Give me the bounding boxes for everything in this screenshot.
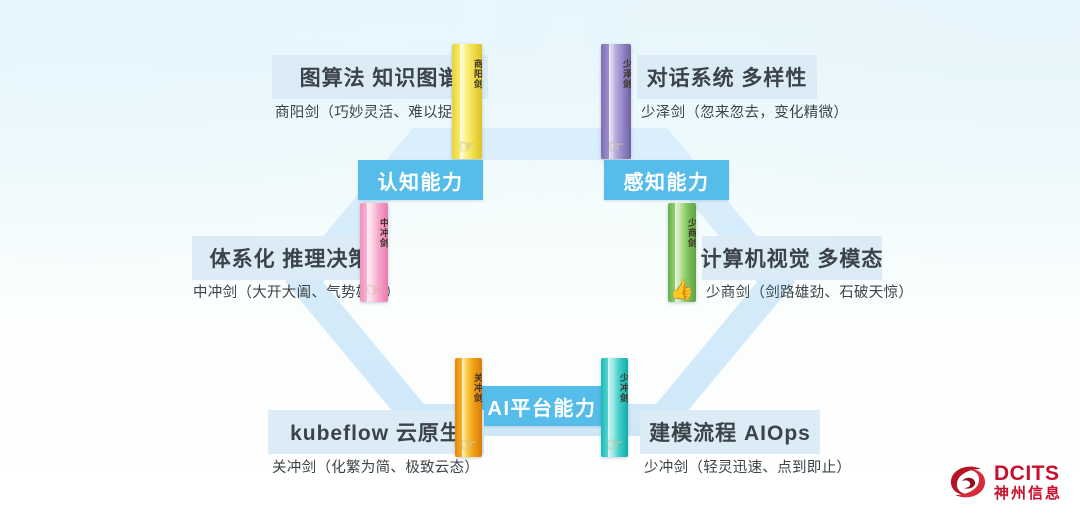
swoosh-icon xyxy=(948,463,988,501)
chip-title-shaoze: 对话系统 多样性 xyxy=(637,55,817,99)
pointing-hand-icon: ☞ xyxy=(360,281,388,300)
pillar-sword-name-shangyang: 商阳剑 xyxy=(452,51,482,97)
pillar-shaochong[interactable]: 少冲剑 ☞ xyxy=(601,358,628,457)
pillar-sword-name-shaoshang: 少商剑 xyxy=(668,210,696,256)
logo-text-block: DCITS 神州信息 xyxy=(994,463,1062,501)
pillar-caption-shaoshang: 少商剑（剑路雄劲、石破天惊） xyxy=(706,281,913,302)
capability-box-perception[interactable]: 感知能力 xyxy=(604,160,729,200)
brand-logo: DCITS 神州信息 xyxy=(948,463,1062,501)
pillar-title-zhongchong: 体系化 推理决策 xyxy=(210,243,371,273)
pillar-sword-name-guanchong: 关冲剑 xyxy=(455,365,482,411)
pointing-hand-icon: ☞ xyxy=(455,436,482,455)
chip-title-guanchong: kubeflow 云原生 xyxy=(268,410,484,454)
pillar-sword-name-shaochong: 少冲剑 xyxy=(601,365,628,411)
pillar-title-shaoze: 对话系统 多样性 xyxy=(647,62,808,92)
chip-title-shaochong: 建模流程 AIOps xyxy=(640,410,820,454)
pillar-guanchong[interactable]: 关冲剑 ☞ xyxy=(455,358,482,457)
pillar-shaoze[interactable]: 少泽剑 ☞ xyxy=(601,44,631,159)
capability-box-platform[interactable]: AI平台能力 xyxy=(477,386,607,426)
pillar-title-shaoshang: 计算机视觉 多模态 xyxy=(701,243,884,273)
pillar-zhongchong[interactable]: 中冲剑 ☞ xyxy=(360,203,388,302)
pointing-hand-icon: ☞ xyxy=(452,138,482,157)
pointing-hand-icon: ☞ xyxy=(601,138,631,157)
slide-canvas: 图算法 知识图谱 商阳剑（巧妙灵活、难以捉摸） 商阳剑 ☞ 少泽剑 ☞ 对话系统… xyxy=(0,0,1080,519)
pillar-sword-name-zhongchong: 中冲剑 xyxy=(360,210,388,256)
pillar-title-guanchong: kubeflow 云原生 xyxy=(290,417,462,447)
pillar-caption-shaoze: 少泽剑（忽来忽去，变化精微） xyxy=(641,101,848,122)
pillar-sword-name-shaoze: 少泽剑 xyxy=(601,51,631,97)
pillar-title-shangyang: 图算法 知识图谱 xyxy=(300,62,461,92)
pillar-caption-guanchong: 关冲剑（化繁为简、极致云态） xyxy=(272,456,479,477)
capability-box-cognitive[interactable]: 认知能力 xyxy=(358,160,483,200)
chip-title-shaoshang: 计算机视觉 多模态 xyxy=(702,236,882,280)
pointing-hand-icon: ☞ xyxy=(601,436,628,455)
logo-text-en: DCITS xyxy=(994,463,1062,484)
thumbs-up-hand-icon: 👍 xyxy=(668,281,696,300)
pillar-title-shaochong: 建模流程 AIOps xyxy=(649,417,811,447)
pillar-shangyang[interactable]: 商阳剑 ☞ xyxy=(452,44,482,159)
logo-text-cn: 神州信息 xyxy=(994,486,1062,501)
chip-title-zhongchong: 体系化 推理决策 xyxy=(192,236,388,280)
pillar-shaoshang[interactable]: 少商剑 👍 xyxy=(668,203,696,302)
pillar-caption-shaochong: 少冲剑（轻灵迅速、点到即止） xyxy=(644,456,851,477)
hexagon-connector-diagram xyxy=(0,0,1080,519)
